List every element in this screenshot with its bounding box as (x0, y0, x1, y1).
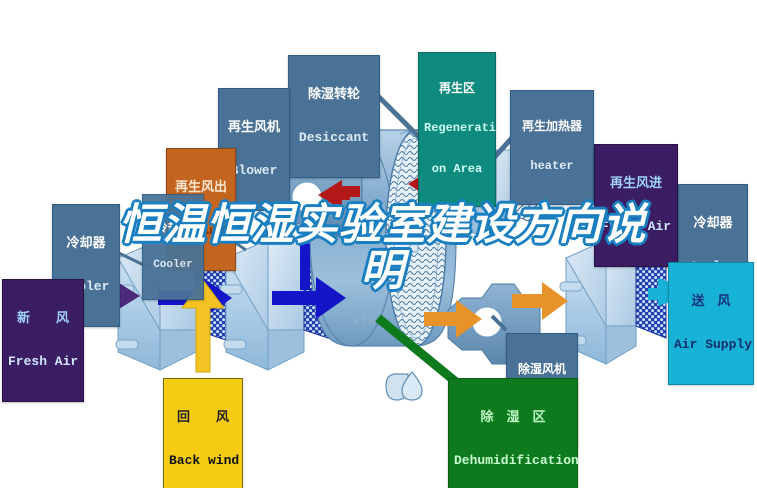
arrow-process-air-3 (300, 244, 310, 290)
label-regeneration-area-cn: 再生区 (424, 82, 490, 95)
label-air-supply[interactable]: 送 风 Air Supply (668, 262, 754, 385)
label-desiccant[interactable]: 除湿转轮 Desiccant (288, 55, 380, 178)
label-dehumidification-district[interactable]: 除 湿 区 Dehumidification District (448, 378, 578, 488)
label-fresh-air-left[interactable]: 新 风 Fresh Air (2, 279, 84, 402)
label-air-supply-en: Air Supply (674, 338, 748, 353)
label-air-supply-cn: 送 风 (674, 294, 748, 309)
label-dehum-blower-cn: 除湿风机 (512, 363, 572, 376)
label-exhaust-cn: 再生风出 (172, 180, 230, 195)
label-desiccant-en: Desiccant (294, 131, 374, 146)
label-dehum-district-cn: 除 湿 区 (454, 410, 572, 425)
label-regeneration-area[interactable]: 再生区 Regenerati on Area (418, 52, 496, 207)
rotor-watermark: XTR (352, 316, 377, 328)
label-regen-heater[interactable]: 再生加热器 heater (510, 90, 594, 205)
diagram-canvas: 除湿转轮 Desiccant 再生风机 Blower 再生风出 Exhaust … (0, 0, 757, 488)
label-back-wind-cn: 回 风 (169, 410, 237, 425)
label-regen-heater-cn: 再生加热器 (516, 120, 588, 133)
label-fresh-air-left-cn: 新 风 (8, 311, 78, 326)
label-regen-fresh-air-en: Fresh Air (600, 220, 672, 235)
label-desiccant-cn: 除湿转轮 (294, 87, 374, 102)
label-regen-heater-en: heater (516, 160, 588, 173)
label-fresh-air-left-en: Fresh Air (8, 355, 78, 370)
label-cooler-left-far-cn: 冷却器 (58, 236, 114, 251)
label-regeneration-area-en1: Regenerati (424, 122, 490, 135)
label-cooler-right-cn: 冷却器 (684, 216, 742, 231)
label-back-wind[interactable]: 回 风 Back wind (163, 378, 243, 488)
label-cooler-left-near-en: Cooler (148, 259, 198, 271)
label-cooler-left-near[interactable]: 冷却器 Cooler (142, 194, 204, 300)
condensate-water-drop (386, 372, 422, 400)
label-regeneration-area-en2: on Area (424, 163, 490, 176)
label-regen-fresh-air-cn: 再生风进 (600, 176, 672, 191)
label-dehum-district-en1: Dehumidification (454, 454, 572, 469)
label-regen-blower-cn: 再生风机 (224, 120, 284, 135)
label-regen-fresh-air[interactable]: 再生风进 Fresh Air (594, 144, 678, 267)
label-back-wind-en: Back wind (169, 454, 237, 469)
label-cooler-left-near-cn: 冷却器 (148, 222, 198, 234)
